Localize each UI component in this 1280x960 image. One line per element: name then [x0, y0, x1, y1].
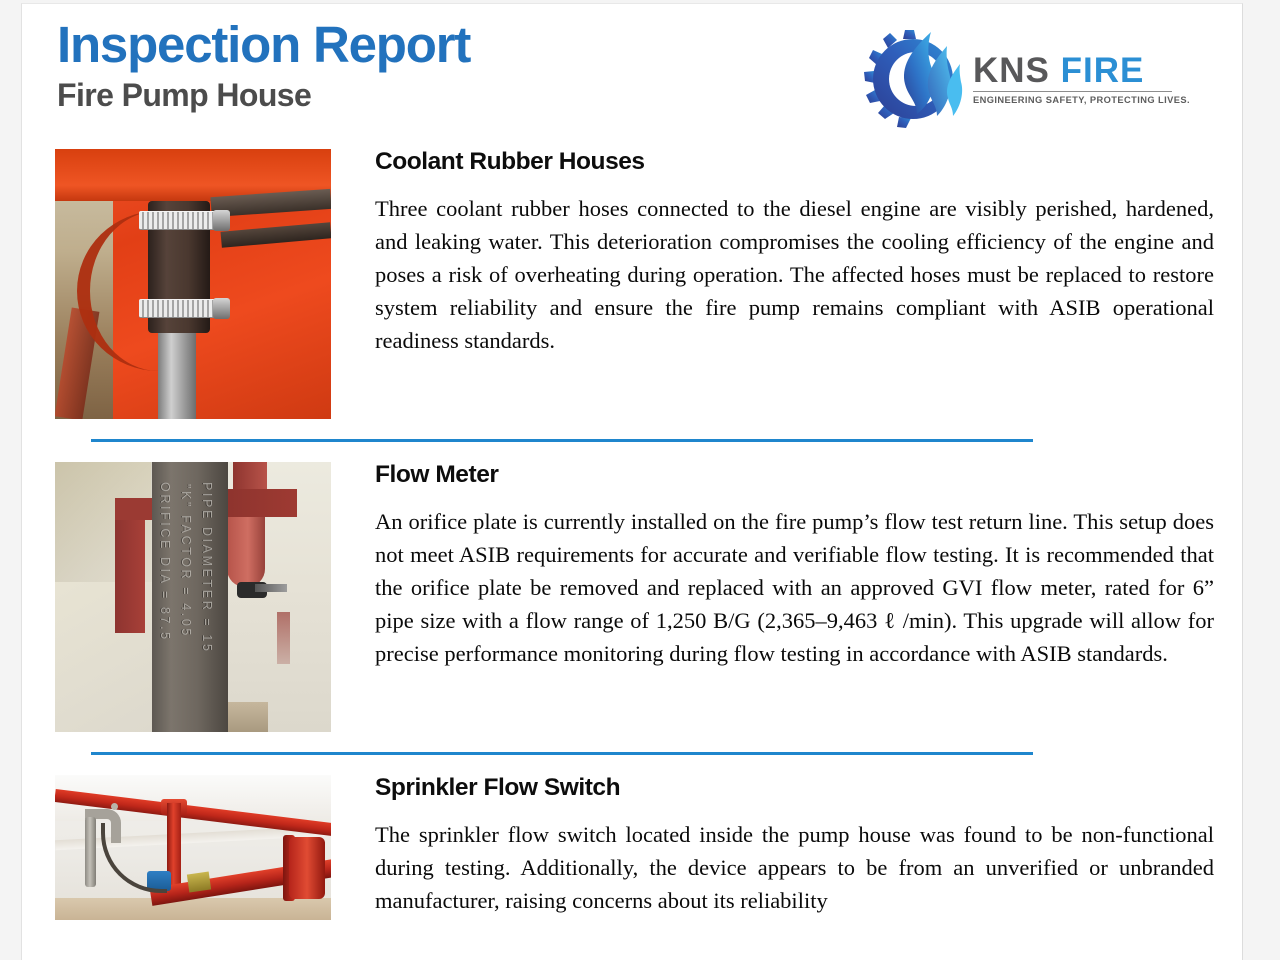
gear-flame-icon: [861, 24, 969, 132]
logo-fire-text: FIRE: [1061, 51, 1145, 90]
orifice-engraving-line-3: PIPE DIAMETER = 15: [200, 482, 214, 654]
section-body: Three coolant rubber hoses connected to …: [375, 193, 1214, 358]
section-text-sprinkler: Sprinkler Flow Switch The sprinkler flow…: [375, 775, 1242, 918]
company-logo: KNS FIRE ENGINEERING SAFETY, PROTECTING …: [847, 22, 1177, 134]
orifice-engraving-line-2: "K" FACTOR = 4.05: [179, 484, 193, 638]
section-flow-meter: ORIFICE DIA = 87.5 "K" FACTOR = 4.05 PIP…: [22, 462, 1242, 732]
section-photo-orifice-plate: ORIFICE DIA = 87.5 "K" FACTOR = 4.05 PIP…: [55, 462, 331, 732]
section-divider-1: [91, 439, 1033, 442]
section-sprinkler-flow-switch: Sprinkler Flow Switch The sprinkler flow…: [22, 775, 1242, 920]
section-coolant-rubber-houses: Coolant Rubber Houses Three coolant rubb…: [22, 149, 1242, 419]
section-heading: Flow Meter: [375, 462, 1214, 489]
section-body: The sprinkler flow switch located inside…: [375, 819, 1214, 918]
section-body: An orifice plate is currently installed …: [375, 506, 1214, 671]
section-heading: Sprinkler Flow Switch: [375, 775, 1214, 802]
page-subtitle: Fire Pump House: [57, 77, 470, 114]
logo-tagline: ENGINEERING SAFETY, PROTECTING LIVES.: [973, 95, 1173, 105]
section-text-coolant: Coolant Rubber Houses Three coolant rubb…: [375, 149, 1242, 358]
title-block: Inspection Report Fire Pump House: [57, 18, 470, 114]
report-page: Inspection Report Fire Pump House: [21, 3, 1243, 960]
section-photo-sprinkler-switch: [55, 775, 331, 920]
logo-wordmark: KNS FIRE ENGINEERING SAFETY, PROTECTING …: [973, 53, 1173, 105]
logo-divider: [973, 91, 1172, 92]
page-title: Inspection Report: [57, 18, 470, 71]
section-text-flow-meter: Flow Meter An orifice plate is currently…: [375, 462, 1242, 671]
section-divider-2: [91, 752, 1033, 755]
logo-words: KNS FIRE: [973, 53, 1173, 88]
orifice-engraving-line-1: ORIFICE DIA = 87.5: [158, 482, 172, 642]
section-heading: Coolant Rubber Houses: [375, 149, 1214, 176]
report-header: Inspection Report Fire Pump House: [22, 4, 1242, 149]
logo-kns-text: KNS: [973, 51, 1050, 90]
section-photo-coolant-hose: [55, 149, 331, 419]
